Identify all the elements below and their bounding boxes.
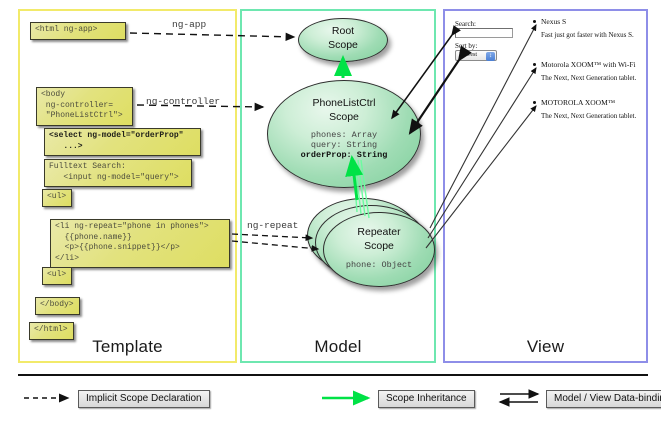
legend-label-model-view-data-binding: Model / View Data-binding [546, 390, 661, 408]
scope-phonelistctrl: PhoneListCtrl Scope phones: Array query:… [267, 80, 421, 188]
code-box-ul-close: <ul> [42, 267, 72, 285]
code-box-input-tag: Fulltext Search: <input ng-model="query"… [44, 159, 192, 187]
column-label-template: Template [20, 337, 235, 357]
scope-phonelistctrl-title-2: Scope [268, 109, 420, 123]
view-sort-value: Newest [459, 52, 477, 58]
view-phone-name-text-0: Nexus S [541, 17, 566, 26]
code-box-body-open: <body ng-controller= "PhoneListCtrl"> [36, 87, 133, 126]
scope-phonelistctrl-title-1: PhoneListCtrl [268, 81, 420, 109]
bullet-icon [533, 20, 536, 23]
connector-label-ng-app: ng-app [172, 19, 206, 30]
view-phone-name-1: Motorola XOOM™ with Wi-Fi [541, 60, 636, 69]
code-box-body-close: </body> [35, 297, 80, 315]
view-phone-snippet-2: The Next, Next Generation tablet. [541, 112, 636, 120]
scope-root-title-2: Scope [299, 37, 387, 51]
view-phone-snippet-0: Fast just got faster with Nexus S. [541, 31, 634, 39]
view-phone-name-2: MOTOROLA XOOM™ [541, 98, 615, 107]
scope-root: Root Scope [298, 18, 388, 62]
scope-repeater-title-1: Repeater [324, 213, 434, 238]
scope-prop-orderprop: orderProp: String [268, 150, 420, 160]
view-phone-snippet-1: The Next, Next Generation tablet. [541, 74, 636, 82]
code-box-html-open: <html ng-app> [30, 22, 126, 40]
scope-root-title-1: Root [299, 19, 387, 37]
bullet-icon [533, 63, 536, 66]
code-box-html-close: </html> [29, 322, 74, 340]
view-search-input[interactable] [455, 28, 513, 38]
column-label-view: View [445, 337, 646, 357]
scope-prop-phone: phone: Object [324, 260, 434, 270]
connector-label-ng-controller: ng-controller [146, 96, 220, 107]
code-box-select-tag: <select ng-model="orderProp" ...> [44, 128, 201, 156]
view-search-label: Search: [455, 20, 476, 28]
code-box-li-repeat: <li ng-repeat="phone in phones"> {{phone… [50, 219, 230, 268]
code-box-ul-open: <ul> [42, 189, 72, 207]
view-phone-name-0: Nexus S [541, 17, 566, 26]
view-phone-name-text-2: MOTOROLA XOOM™ [541, 98, 615, 107]
column-label-model: Model [242, 337, 434, 357]
chevron-updown-icon[interactable]: ↕ [486, 52, 495, 61]
view-phone-name-text-1: Motorola XOOM™ with Wi-Fi [541, 60, 636, 69]
legend-divider [18, 374, 648, 376]
legend-label-implicit-scope-declaration: Implicit Scope Declaration [78, 390, 210, 408]
view-sort-label: Sort by: [455, 42, 477, 50]
scope-repeater-title-2: Scope [324, 238, 434, 252]
view-sort-select[interactable]: Newest ↕ [455, 50, 497, 61]
legend-label-scope-inheritance: Scope Inheritance [378, 390, 475, 408]
scope-repeater: Repeater Scope phone: Object [323, 212, 435, 287]
bullet-icon [533, 101, 536, 104]
connector-label-ng-repeat: ng-repeat [247, 220, 298, 231]
diagram-canvas: Template Model View <html ng-app> <body … [0, 0, 661, 425]
scope-prop-query: query: String [268, 140, 420, 150]
scope-prop-phones: phones: Array [268, 130, 420, 140]
